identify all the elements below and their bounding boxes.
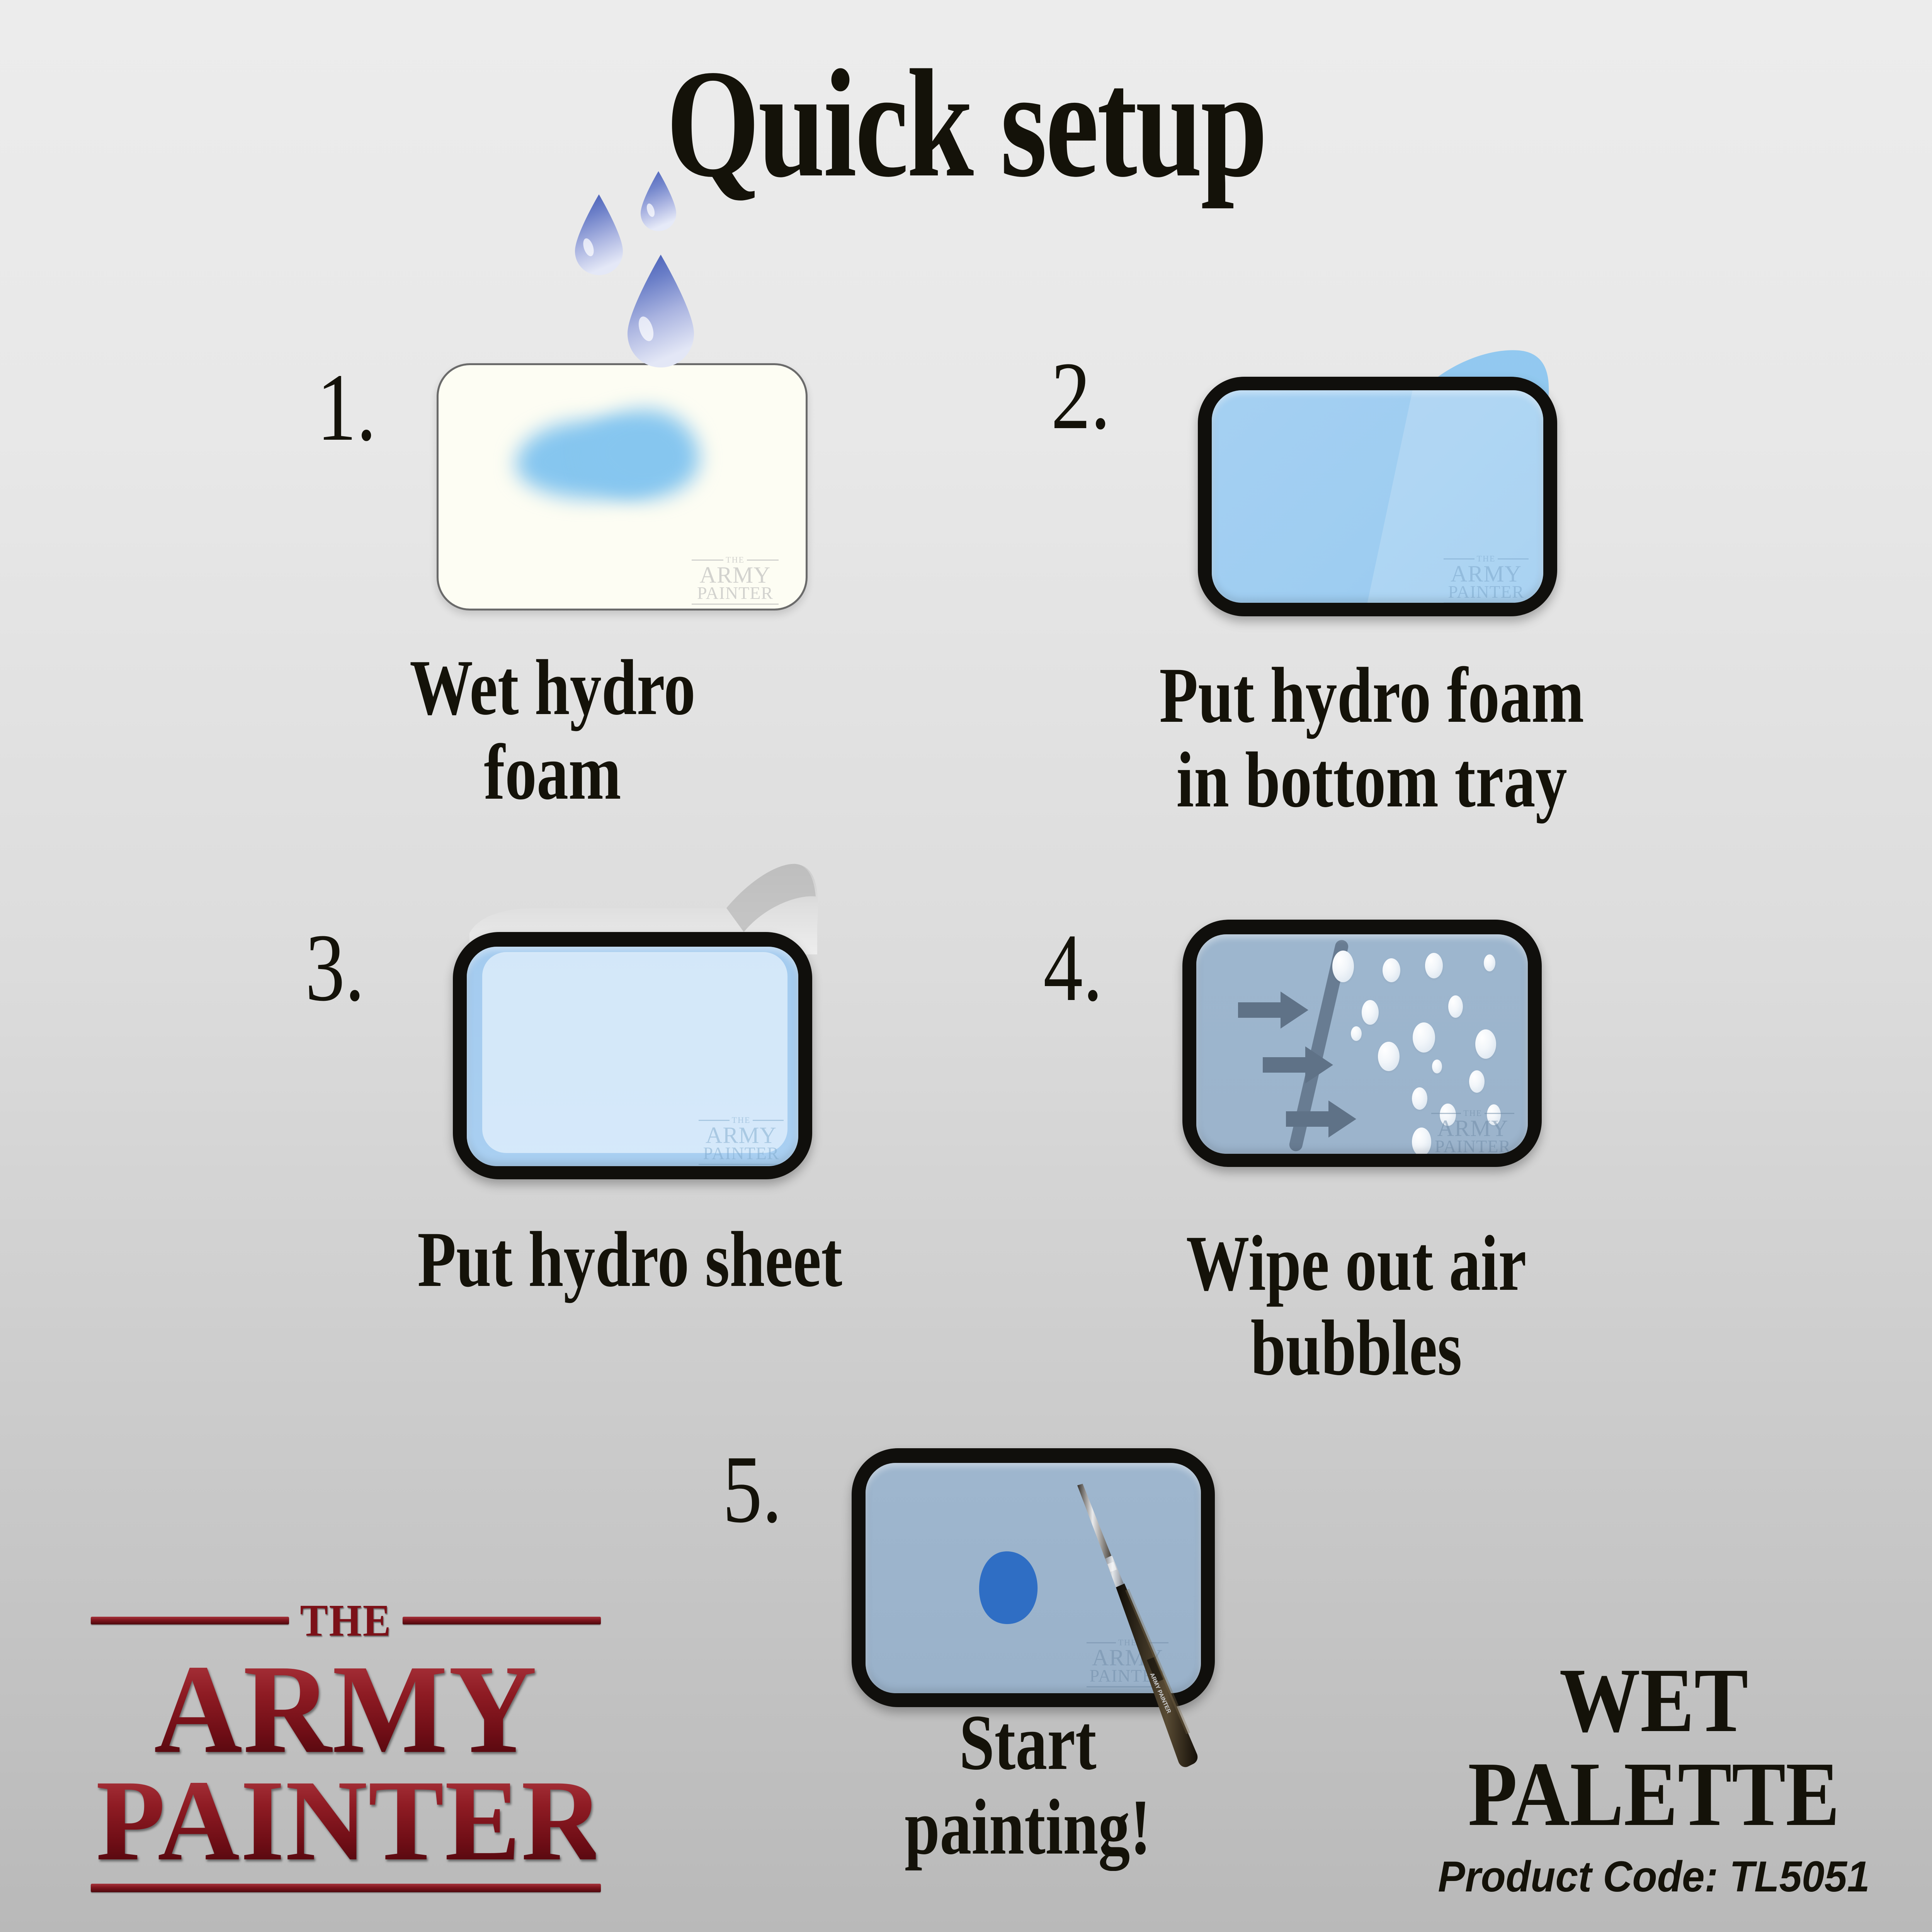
logo-rule-right <box>403 1617 601 1624</box>
paint-blob <box>978 1550 1039 1627</box>
air-bubble <box>1362 1000 1379 1025</box>
army-painter-logo: THE ARMY PAINTER <box>91 1598 601 1892</box>
step-4-illustration: THE ARMY PAINTER <box>1167 916 1561 1182</box>
step-2-caption: Put hydro foam in bottom tray <box>1146 653 1597 823</box>
step-3-number: 3. <box>305 920 365 1016</box>
step-4-caption: Wipe out air bubbles <box>1134 1221 1579 1391</box>
water-droplet-large <box>622 253 699 369</box>
tray-inner-well: THE ARMY PAINTER <box>1196 934 1528 1154</box>
hydro-sheet-overlay <box>482 952 787 1153</box>
water-droplet-small <box>638 170 679 232</box>
step-4-number: 4. <box>1043 920 1103 1016</box>
tray-inner-well: THE ARMY PAINTER <box>467 947 798 1166</box>
logo-the-row: THE <box>91 1598 601 1643</box>
air-bubble <box>1469 1070 1485 1093</box>
air-bubble <box>1351 1026 1362 1041</box>
logo-army: ARMY <box>101 1646 590 1773</box>
air-bubble <box>1487 1104 1501 1125</box>
step-2-illustration: THE ARMY PAINTER <box>1175 332 1569 618</box>
tray-inner-well: THE ARMY PAINTER <box>1212 390 1543 603</box>
product-block: WET PALETTE Product Code: TL5051 <box>1406 1654 1901 1901</box>
air-bubble <box>1475 1029 1496 1059</box>
product-code: Product Code: TL5051 <box>1421 1852 1886 1901</box>
air-bubble <box>1412 1128 1431 1154</box>
air-bubble <box>1440 1104 1456 1126</box>
air-bubble <box>1484 954 1495 971</box>
poster-root: Quick setup 1. THE ARMY PAINTER <box>0 0 1932 1932</box>
air-bubble <box>1448 995 1463 1018</box>
logo-the: THE <box>300 1598 392 1643</box>
air-bubble <box>1413 1022 1435 1053</box>
air-bubble <box>1378 1042 1400 1071</box>
air-bubble <box>1412 1087 1427 1110</box>
logo-painter: PAINTER <box>96 1762 596 1878</box>
step-3-caption: Put hydro sheet <box>352 1217 908 1302</box>
air-bubble <box>1432 1060 1442 1073</box>
air-bubble <box>1332 951 1354 982</box>
step-5-number: 5. <box>723 1441 782 1538</box>
step-3-illustration: THE ARMY PAINTER <box>417 831 850 1186</box>
step-5-caption: Start painting! <box>842 1700 1213 1870</box>
air-bubble <box>1383 958 1400 982</box>
product-name: WET PALETTE <box>1436 1654 1871 1842</box>
step-1-caption: Wet hydro foam <box>383 645 723 815</box>
page-title: Quick setup <box>213 46 1719 201</box>
logo-rule-left <box>91 1617 289 1624</box>
step-2-number: 2. <box>1051 348 1111 444</box>
water-droplet-medium <box>571 193 627 276</box>
logo-rule-bottom <box>91 1884 601 1892</box>
air-bubble <box>1425 953 1443 978</box>
step-1-number: 1. <box>317 359 376 456</box>
step-1-illustration: THE ARMY PAINTER <box>437 363 808 611</box>
